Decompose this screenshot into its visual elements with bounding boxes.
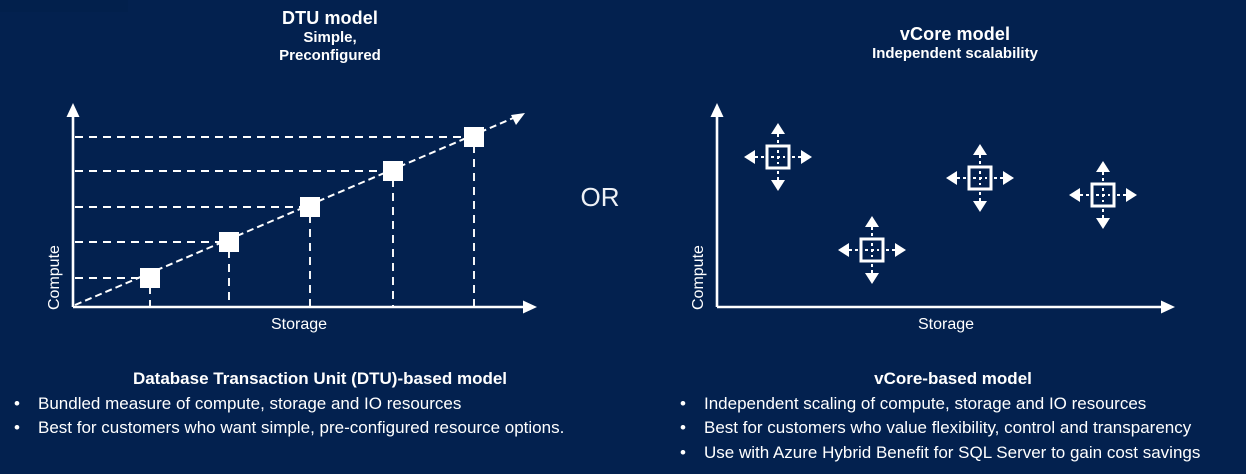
bullet-icon: •: [14, 416, 20, 440]
vcore-scalable-node-icon: [946, 144, 1014, 212]
vcore-subtitle-line1: Independent scalability: [800, 45, 1110, 63]
list-item-label: Bundled measure of compute, storage and …: [38, 394, 461, 413]
dtu-data-point: [219, 232, 239, 252]
vcore-panel-title: vCore model Independent scalability: [800, 24, 1110, 63]
dtu-title-text: DTU model: [175, 8, 485, 29]
list-item: • Best for customers who value flexibili…: [660, 416, 1246, 440]
or-divider-label: OR: [540, 182, 660, 213]
dtu-x-axis-label: Storage: [271, 316, 327, 334]
vcore-scalable-node-icon: [744, 123, 812, 191]
dtu-panel-title: DTU model Simple, Preconfigured: [175, 8, 485, 65]
list-item: • Independent scaling of compute, storag…: [660, 392, 1246, 416]
vcore-y-axis: [711, 103, 724, 307]
dtu-footer: Database Transaction Unit (DTU)-based mo…: [0, 368, 640, 441]
dtu-data-point: [140, 268, 160, 288]
vcore-y-axis-label: Compute: [690, 245, 708, 310]
list-item: • Best for customers who want simple, pr…: [0, 416, 640, 440]
list-item-label: Best for customers who want simple, pre-…: [38, 418, 564, 437]
dtu-data-point: [464, 127, 484, 147]
vcore-title-text: vCore model: [800, 24, 1110, 45]
slide-root: DTU model Simple, Preconfigured vCore mo…: [0, 0, 1246, 474]
dtu-y-axis-label: Compute: [46, 245, 64, 310]
list-item: • Bundled measure of compute, storage an…: [0, 392, 640, 416]
dtu-chart-canvas: [30, 95, 550, 345]
bullet-icon: •: [680, 416, 686, 440]
bullet-icon: •: [14, 392, 20, 416]
dtu-guide-lines: [75, 137, 474, 306]
vcore-bullet-list: • Independent scaling of compute, storag…: [660, 392, 1246, 464]
bullet-icon: •: [680, 441, 686, 465]
vcore-scalable-node-icon: [838, 216, 906, 284]
dtu-subtitle-line1: Simple,: [175, 29, 485, 47]
dtu-data-point: [300, 197, 320, 217]
list-item-label: Independent scaling of compute, storage …: [704, 394, 1146, 413]
dtu-footer-heading: Database Transaction Unit (DTU)-based mo…: [0, 368, 640, 389]
vcore-x-axis-label: Storage: [918, 316, 974, 334]
vcore-scalable-node-icon: [1069, 161, 1137, 229]
list-item: • Use with Azure Hybrid Benefit for SQL …: [660, 441, 1246, 465]
dtu-subtitle-line2: Preconfigured: [175, 47, 485, 65]
vcore-chart-canvas: [670, 95, 1210, 345]
bullet-icon: •: [680, 392, 686, 416]
vcore-footer-heading: vCore-based model: [660, 368, 1246, 389]
dtu-bullet-list: • Bundled measure of compute, storage an…: [0, 392, 640, 440]
list-item-label: Use with Azure Hybrid Benefit for SQL Se…: [704, 443, 1200, 462]
dtu-chart: Compute Storage: [30, 95, 550, 345]
dtu-data-point: [383, 161, 403, 181]
dtu-x-axis: [73, 301, 537, 314]
vcore-chart: Compute Storage: [670, 95, 1210, 345]
dtu-y-axis: [67, 103, 80, 307]
vcore-footer: vCore-based model • Independent scaling …: [660, 368, 1246, 465]
vcore-x-axis: [717, 301, 1175, 314]
list-item-label: Best for customers who value flexibility…: [704, 418, 1191, 437]
corner-tint: [0, 0, 128, 12]
